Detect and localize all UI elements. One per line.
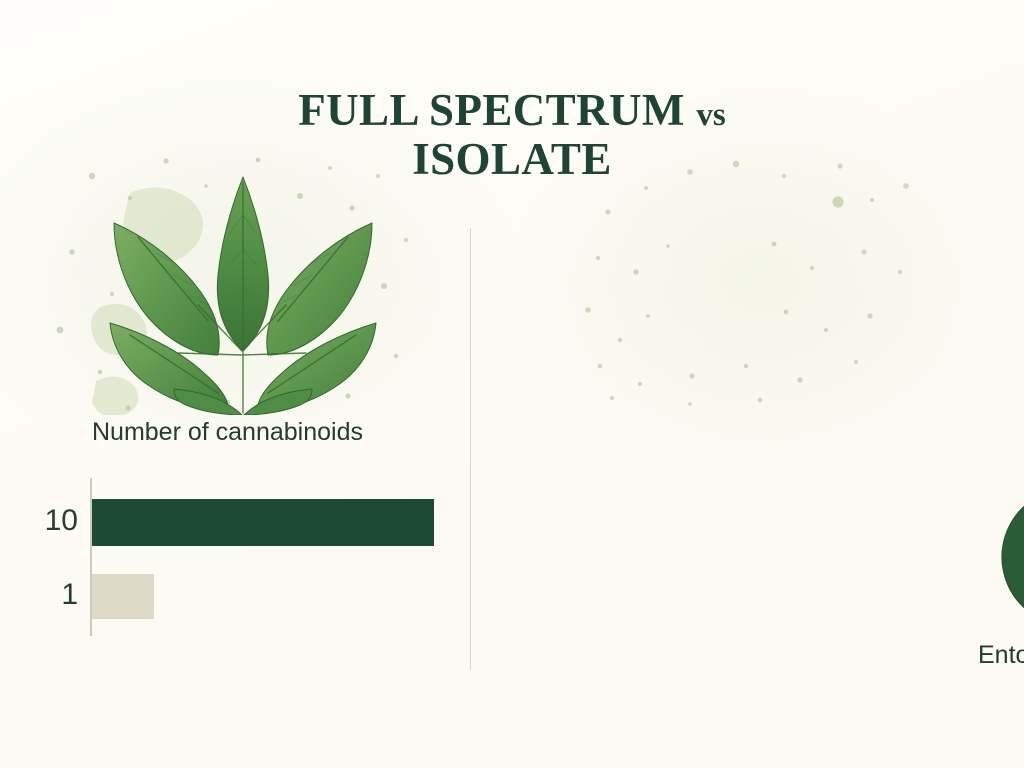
bar-chart-label: Number of cannabinoids [92, 418, 363, 447]
cannabis-leaf-icon [78, 175, 408, 415]
bar-value-10: 10 [22, 504, 78, 538]
pie-slice-high [1002, 488, 1024, 613]
pie-chart-caption: Entourage effect strength [978, 641, 1024, 670]
bar-isolate [92, 574, 154, 619]
pie-chart [1001, 487, 1024, 627]
bar-value-1: 1 [22, 578, 78, 612]
right-panel: ISOLATE High None Entourage effect stren… [470, 0, 1024, 768]
bar-full-spectrum [92, 499, 434, 546]
infographic-canvas: FULL SPECTRUM vs ISOLATE [0, 0, 1024, 768]
left-panel: Number of cannabinoids 10 1 [0, 0, 470, 768]
